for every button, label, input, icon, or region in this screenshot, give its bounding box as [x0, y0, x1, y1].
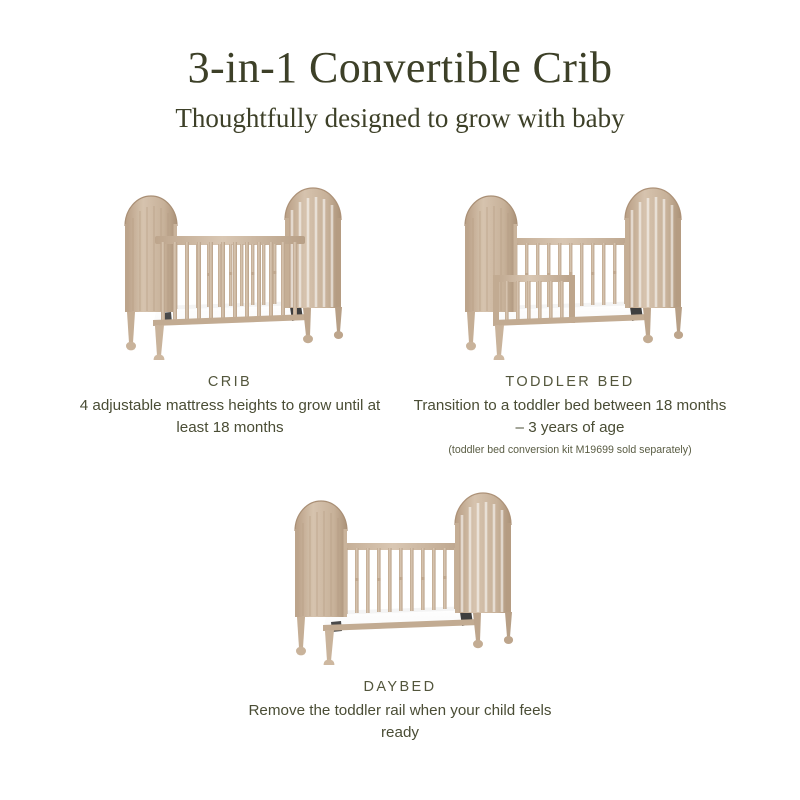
- mode-label-crib: CRIB: [70, 374, 390, 390]
- mode-label-daybed: DAYBED: [240, 679, 560, 695]
- crib-svg-daybed: [265, 485, 535, 665]
- crib-svg-crib: [95, 180, 365, 360]
- mode-panel-toddler-bed: TODDLER BED Transition to a toddler bed …: [400, 180, 740, 458]
- back-panel-spindles: [327, 543, 473, 614]
- crib-svg-toddler-bed: [435, 180, 705, 360]
- end-panel-right: [625, 188, 681, 308]
- mode-label-toddler-bed: TODDLER BED: [410, 374, 730, 390]
- end-panel-left: [465, 196, 517, 312]
- product-infographic: 3-in-1 Convertible Crib Thoughtfully des…: [0, 0, 800, 800]
- crib-illustration-crib: [95, 180, 365, 360]
- mode-description-crib: 4 adjustable mattress heights to grow un…: [70, 395, 390, 438]
- modes-row-top: CRIB 4 adjustable mattress heights to gr…: [0, 180, 800, 458]
- mode-description-toddler-bed: Transition to a toddler bed between 18 m…: [410, 395, 730, 438]
- modes-row-bottom: DAYBED Remove the toddler rail when your…: [0, 485, 800, 743]
- mode-fineprint-toddler-bed: (toddler bed conversion kit M19699 sold …: [410, 443, 730, 458]
- crib-illustration-daybed: [265, 485, 535, 665]
- end-panel-left: [295, 501, 347, 617]
- page-title: 3-in-1 Convertible Crib: [0, 42, 800, 94]
- mode-panel-daybed: DAYBED Remove the toddler rail when your…: [230, 485, 570, 743]
- caption-crib: CRIB 4 adjustable mattress heights to gr…: [70, 374, 390, 438]
- header: 3-in-1 Convertible Crib Thoughtfully des…: [0, 42, 800, 134]
- end-panel-left: [125, 196, 177, 312]
- caption-toddler-bed: TODDLER BED Transition to a toddler bed …: [410, 374, 730, 458]
- crib-illustration-toddler-bed: [435, 180, 705, 360]
- mode-description-daybed: Remove the toddler rail when your child …: [240, 700, 560, 743]
- end-panel-right: [455, 493, 511, 613]
- mode-panel-crib: CRIB 4 adjustable mattress heights to gr…: [60, 180, 400, 458]
- caption-daybed: DAYBED Remove the toddler rail when your…: [240, 679, 560, 743]
- page-subtitle: Thoughtfully designed to grow with baby: [0, 102, 800, 134]
